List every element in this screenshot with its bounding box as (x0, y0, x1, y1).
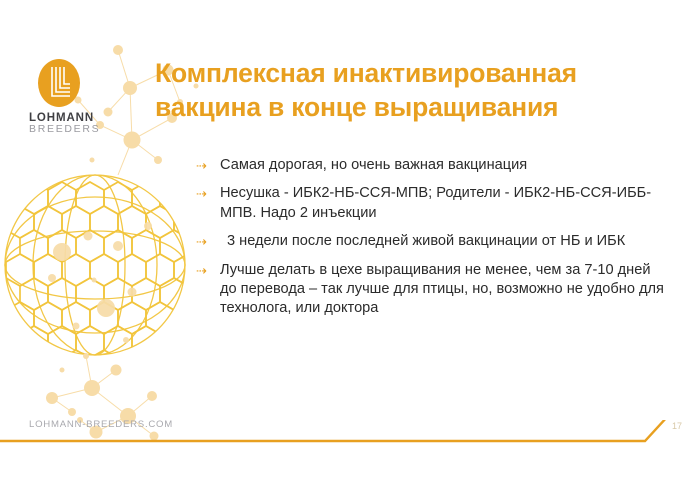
dashed-arrow-icon: ⇢ (196, 232, 224, 251)
footer-website-url: LOHMANN-BREEDERS.COM (29, 419, 173, 430)
bullet-text: 3 недели после последней живой вакцинаци… (227, 233, 625, 249)
dashed-arrow-icon: ⇢ (196, 261, 218, 280)
dashed-arrow-icon: ⇢ (196, 184, 218, 203)
bullet-item: ⇢ Несушка - ИБК2-НБ-ССЯ-МПВ; Родители - … (196, 184, 666, 223)
bullet-text: Несушка - ИБК2-НБ-ССЯ-МПВ; Родители - ИБ… (220, 185, 651, 220)
slide-canvas: LOHMANN BREEDERS Комплексная инактивиров… (0, 0, 700, 495)
lohmann-egg-logo-icon (36, 58, 82, 108)
bullet-item: ⇢ Самая дорогая, но очень важная вакцина… (196, 156, 666, 175)
bullet-item: ⇢ Лучше делать в цехе выращивания не мен… (196, 261, 666, 319)
logo-wordmark: LOHMANN BREEDERS (29, 112, 107, 135)
dashed-arrow-icon: ⇢ (196, 156, 218, 175)
bullet-text: Лучше делать в цехе выращивания не менее… (220, 262, 664, 317)
bullet-list: ⇢ Самая дорогая, но очень важная вакцина… (196, 156, 666, 319)
lohmann-breeders-logo: LOHMANN BREEDERS (29, 58, 107, 135)
bullet-text: Самая дорогая, но очень важная вакцинаци… (220, 157, 527, 173)
page-number: 17 (672, 421, 682, 431)
logo-word-breeders: BREEDERS (29, 124, 107, 135)
bullet-item: ⇢ 3 недели после последней живой вакцина… (196, 232, 666, 251)
slide-title: Комплексная инактивированная вакцина в к… (155, 57, 675, 124)
